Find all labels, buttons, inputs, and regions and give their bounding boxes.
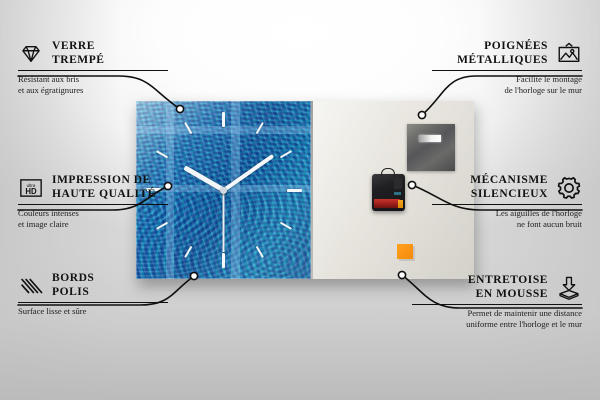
feature-rule bbox=[18, 302, 168, 303]
feature-subtitle: Résistant aux bris et aux égratignures bbox=[18, 74, 168, 95]
leader-dot-entretoise bbox=[398, 271, 405, 278]
feature-verre-trempe: VERRE TREMPÉ Résistant aux bris et aux é… bbox=[18, 40, 168, 96]
picture-hanger-icon bbox=[556, 41, 582, 67]
ultra-hd-icon: ultra HD bbox=[18, 175, 44, 201]
svg-text:HD: HD bbox=[25, 187, 37, 196]
feature-entretoise-en-mousse: ENTRETOISE EN MOUSSE Permet de maintenir… bbox=[412, 274, 582, 330]
infographic-canvas: VERRE TREMPÉ Résistant aux bris et aux é… bbox=[0, 0, 600, 400]
feature-rule bbox=[432, 70, 582, 71]
feature-rule bbox=[18, 204, 168, 205]
feature-impression-haute-qualite: ultra HD IMPRESSION DE HAUTE QUALITÉ Cou… bbox=[18, 174, 168, 230]
feature-subtitle: Couleurs intenses et image claire bbox=[18, 208, 168, 229]
feature-header: BORDS POLIS bbox=[18, 272, 168, 299]
feature-header: POIGNÉES MÉTALLIQUES bbox=[432, 40, 582, 67]
gear-icon bbox=[556, 175, 582, 201]
feature-poignees-metalliques: POIGNÉES MÉTALLIQUES Facilite le montage… bbox=[432, 40, 582, 96]
feature-rule bbox=[432, 204, 582, 205]
feature-bords-polis: BORDS POLIS Surface lisse et sûre bbox=[18, 272, 168, 317]
feature-mecanisme-silencieux: MÉCANISME SILENCIEUX Les aiguilles de l'… bbox=[432, 174, 582, 230]
feature-title: IMPRESSION DE HAUTE QUALITÉ bbox=[52, 174, 156, 201]
feature-rule bbox=[18, 70, 168, 71]
diamond-icon bbox=[18, 41, 44, 67]
feature-header: ultra HD IMPRESSION DE HAUTE QUALITÉ bbox=[18, 174, 168, 201]
polished-edges-icon bbox=[18, 273, 44, 299]
leader-dot-bords-polis bbox=[190, 272, 197, 279]
feature-title: ENTRETOISE EN MOUSSE bbox=[468, 274, 548, 301]
foam-spacer-icon bbox=[556, 275, 582, 301]
feature-rule bbox=[412, 304, 582, 305]
leader-dot-mecanisme bbox=[408, 181, 415, 188]
feature-title: MÉCANISME SILENCIEUX bbox=[470, 174, 548, 201]
leader-dot-verre-trempe bbox=[176, 105, 183, 112]
feature-title: VERRE TREMPÉ bbox=[52, 40, 105, 67]
feature-subtitle: Surface lisse et sûre bbox=[18, 306, 168, 317]
feature-header: ENTRETOISE EN MOUSSE bbox=[412, 274, 582, 301]
feature-subtitle: Les aiguilles de l'horloge ne font aucun… bbox=[432, 208, 582, 229]
leader-dot-poignees bbox=[418, 111, 425, 118]
feature-header: MÉCANISME SILENCIEUX bbox=[432, 174, 582, 201]
feature-header: VERRE TREMPÉ bbox=[18, 40, 168, 67]
feature-title: POIGNÉES MÉTALLIQUES bbox=[457, 40, 548, 67]
feature-subtitle: Facilite le montage de l'horloge sur le … bbox=[432, 74, 582, 95]
feature-subtitle: Permet de maintenir une distance uniform… bbox=[412, 308, 582, 329]
feature-title: BORDS POLIS bbox=[52, 272, 94, 299]
